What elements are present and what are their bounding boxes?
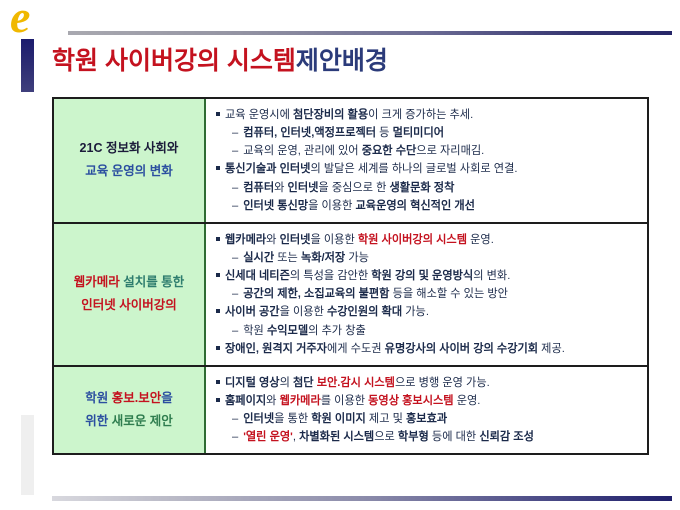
label-text-segment: 교육 운영의 변화 — [85, 164, 172, 178]
bullet-text-segment: 을 통한 — [274, 413, 311, 425]
bullet-line: 장애인, 원격지 거주자에게 수도권 유명강사의 사이버 강의 수강기회 제공. — [216, 340, 639, 358]
bottom-divider-rule — [52, 496, 672, 501]
square-bullet-icon — [216, 166, 220, 170]
proposal-background-table: 21C 정보화 사회와교육 운영의 변화교육 운영시에 첨단장비의 활용이 크게… — [52, 97, 649, 455]
bullet-text-segment: 에 있어 — [325, 145, 362, 157]
bullet-text-segment: 을 이용한 — [280, 306, 327, 318]
bullet-text-segment: 보안.감시 시스템 — [317, 377, 395, 389]
bullet-text-segment: 인터넷 — [288, 182, 319, 194]
row-category-label: 21C 정보화 사회와교육 운영의 변화 — [54, 99, 206, 222]
bullet-text-segment: 학부형 — [398, 431, 429, 443]
square-bullet-icon — [216, 309, 220, 313]
sub-bullet-line: –실시간 또는 녹화/저장 가능 — [216, 249, 639, 267]
sub-bullet-line: –교육의 운영, 관리에 있어 중요한 수단으로 자리매김. — [216, 142, 639, 160]
bullet-text-segment: 제고 및 — [366, 413, 406, 425]
square-bullet-icon — [216, 398, 220, 402]
sub-bullet-line: –인터넷을 통한 학원 이미지 제고 및 홍보효과 — [216, 410, 639, 428]
bullet-text-segment: 동영상 홍보시스템 — [368, 395, 453, 407]
bullet-text-segment: 차별화된 시스템 — [299, 431, 374, 443]
bullet-text: 공간의 제한, 소집교육의 불편함 등을 해소할 수 있는 방안 — [243, 285, 508, 303]
bullet-text-segment: 공간의 제한, 소집교육의 불편함 — [243, 288, 389, 300]
sub-bullet-line: –컴퓨터, 인터넷,액정프로젝터 등 멀티미디어 — [216, 124, 639, 142]
bullet-text: '열린 운영', 차별화된 시스템으로 학부형 등에 대한 신뢰감 조성 — [243, 428, 534, 446]
bullet-line: 웹카메라와 인터넷을 이용한 학원 사이버강의 시스템 운영. — [216, 231, 639, 249]
bullet-text-segment: 으로 — [374, 431, 398, 443]
label-text-segment: 학원 — [85, 391, 111, 405]
bullet-text-segment: 가능. — [402, 306, 429, 318]
bullet-text: 학원 수익모델의 추가 창출 — [243, 322, 366, 340]
bullet-text-segment: 생활문화 정착 — [390, 182, 455, 194]
square-bullet-icon — [216, 380, 220, 384]
bullet-text-segment: 와 — [274, 182, 287, 194]
bullet-text-segment: 신세대 네티즌 — [225, 270, 290, 282]
dash-bullet-icon: – — [232, 410, 238, 428]
bullet-text-segment: 등에 대한 — [429, 431, 480, 443]
dash-bullet-icon: – — [232, 249, 238, 267]
bullet-line: 홈페이지와 웹카메라를 이용한 동영상 홍보시스템 운영. — [216, 392, 639, 410]
sub-bullet-line: –'열린 운영', 차별화된 시스템으로 학부형 등에 대한 신뢰감 조성 — [216, 428, 639, 446]
bullet-text-segment: 를 이용한 — [321, 395, 368, 407]
bullet-text-segment: 녹화/저장 — [301, 252, 345, 264]
bullet-text-segment: 을 이용한 — [310, 234, 357, 246]
square-bullet-icon — [216, 346, 220, 350]
sub-bullet-line: –학원 수익모델의 추가 창출 — [216, 322, 639, 340]
sub-bullet-line: –인터넷 통신망을 이용한 교육운영의 혁신적인 개선 — [216, 197, 639, 215]
page-title-secondary: 제안배경 — [296, 47, 388, 75]
row-category-label-line: 21C 정보화 사회와 — [80, 137, 179, 160]
bullet-text-segment: 멀티미디어 — [393, 127, 444, 139]
bullet-text: 신세대 네티즌의 특성을 감안한 학원 강의 및 운영방식의 변화. — [225, 267, 510, 285]
bullet-text-segment: 또는 — [274, 252, 301, 264]
bullet-text-segment: '열린 운영' — [243, 431, 293, 443]
dash-bullet-icon: – — [232, 322, 238, 340]
bullet-text-segment: 중요한 수단 — [362, 145, 417, 157]
label-text-segment: 21C 정보화 사회와 — [80, 141, 179, 155]
square-bullet-icon — [216, 112, 220, 116]
top-divider-rule — [68, 31, 672, 35]
dash-bullet-icon: – — [232, 179, 238, 197]
bullet-line: 디지털 영상의 첨단 보안.감시 시스템으로 병행 운영 가능. — [216, 374, 639, 392]
row-category-label-line: 교육 운영의 변화 — [85, 160, 172, 183]
bullet-text-segment: 교육의 운영, 관리 — [243, 145, 324, 157]
bullet-text-segment: 으로 자리매김. — [416, 145, 484, 157]
bullet-text: 디지털 영상의 첨단 보안.감시 시스템으로 병행 운영 가능. — [225, 374, 490, 392]
row-category-label: 웹카메라 설치를 통한인터넷 사이버강의 — [54, 224, 206, 365]
bullet-line: 통신기술과 인터넷의 발달은 세계를 하나의 글로벌 사회로 연결. — [216, 160, 639, 178]
bullet-text-segment: 컴퓨터, 인터넷,액정프로젝터 — [243, 127, 376, 139]
label-text-segment: 인터넷 사이버강의 — [81, 298, 176, 312]
bullet-text-segment: 학원 강의 및 운영방식 — [371, 270, 473, 282]
bullet-text: 컴퓨터와 인터넷을 중심으로 한 생활문화 정착 — [243, 179, 454, 197]
bullet-text-segment: 가능 — [345, 252, 369, 264]
bullet-text-segment: 인터넷 — [280, 234, 311, 246]
page-title-primary: 학원 사이버강의 시스템 — [52, 47, 296, 75]
bullet-text-segment: 학원 사이버강의 시스템 — [358, 234, 467, 246]
bullet-text-segment: 이 크게 증가하는 추세. — [368, 109, 473, 121]
bullet-text-segment: 통신기술과 인터넷 — [225, 163, 310, 175]
bullet-text: 컴퓨터, 인터넷,액정프로젝터 등 멀티미디어 — [243, 124, 444, 142]
dash-bullet-icon: – — [232, 285, 238, 303]
bullet-text-segment: 에게 수도권 — [327, 343, 385, 355]
bullet-text: 교육의 운영, 관리에 있어 중요한 수단으로 자리매김. — [243, 142, 484, 160]
bullet-text-segment: 교육 운영시에 — [225, 109, 293, 121]
slide-canvas: e 학원 사이버강의 시스템제안배경 21C 정보화 사회와교육 운영의 변화교… — [0, 0, 680, 510]
bullet-text: 교육 운영시에 첨단장비의 활용이 크게 증가하는 추세. — [225, 106, 473, 124]
bullet-text-segment: 등을 해소할 수 있는 방안 — [389, 288, 507, 300]
row-category-label-line: 학원 홍보.보안을 — [85, 387, 172, 410]
row-content-cell: 교육 운영시에 첨단장비의 활용이 크게 증가하는 추세.–컴퓨터, 인터넷,액… — [206, 99, 647, 222]
row-content-cell: 웹카메라와 인터넷을 이용한 학원 사이버강의 시스템 운영.–실시간 또는 녹… — [206, 224, 647, 365]
bullet-text-segment: 홍보효과 — [406, 413, 447, 425]
bullet-text-segment: 유명강사의 사이버 강의 수강기회 — [385, 343, 538, 355]
bullet-text-segment: 학원 — [243, 325, 267, 337]
bullet-text-segment: 디지털 영상 — [225, 377, 280, 389]
bullet-text-segment: 인터넷 — [243, 413, 274, 425]
bullet-text-segment: 사이버 공간 — [225, 306, 280, 318]
bullet-text-segment: 신뢰감 조성 — [479, 431, 534, 443]
bullet-text-segment: 제공. — [538, 343, 565, 355]
label-text-segment: 웹카메라 — [74, 275, 123, 289]
bullet-text-segment: 학원 이미지 — [311, 413, 366, 425]
bullet-text-segment: 의 특성을 감안한 — [290, 270, 371, 282]
bullet-text-segment: 실시간 — [243, 252, 274, 264]
bullet-text-segment: 웹카메라 — [280, 395, 321, 407]
sub-bullet-line: –공간의 제한, 소집교육의 불편함 등을 해소할 수 있는 방안 — [216, 285, 639, 303]
dash-bullet-icon: – — [232, 142, 238, 160]
e-logo-icon: e — [10, 0, 29, 40]
bullet-text-segment: 첨단장비의 활용 — [293, 109, 368, 121]
bullet-text-segment: 의 변화. — [473, 270, 510, 282]
bullet-text-segment: 인터넷 통신망 — [243, 200, 308, 212]
bullet-text-segment: 컴퓨터 — [243, 182, 274, 194]
row-category-label-line: 인터넷 사이버강의 — [81, 294, 176, 317]
bullet-text-segment: 교육운영의 혁신적인 개선 — [356, 200, 475, 212]
page-title: 학원 사이버강의 시스템제안배경 — [52, 48, 388, 76]
row-category-label-line: 웹카메라 설치를 통한 — [74, 271, 184, 294]
bullet-text-segment: 운영. — [467, 234, 494, 246]
table-row: 21C 정보화 사회와교육 운영의 변화교육 운영시에 첨단장비의 활용이 크게… — [54, 99, 647, 224]
bullet-line: 신세대 네티즌의 특성을 감안한 학원 강의 및 운영방식의 변화. — [216, 267, 639, 285]
bullet-text-segment: 의 추가 창출 — [308, 325, 366, 337]
bullet-text: 인터넷을 통한 학원 이미지 제고 및 홍보효과 — [243, 410, 447, 428]
row-category-label: 학원 홍보.보안을위한 새로운 제안 — [54, 367, 206, 454]
bullet-text: 홈페이지와 웹카메라를 이용한 동영상 홍보시스템 운영. — [225, 392, 480, 410]
dash-bullet-icon: – — [232, 197, 238, 215]
bullet-text-segment: 의 — [280, 377, 293, 389]
label-text-segment: 을 — [161, 391, 173, 405]
label-text-segment: 홍보.보안 — [112, 391, 161, 405]
row-content-cell: 디지털 영상의 첨단 보안.감시 시스템으로 병행 운영 가능.홈페이지와 웹카… — [206, 367, 647, 454]
bullet-text: 인터넷 통신망을 이용한 교육운영의 혁신적인 개선 — [243, 197, 475, 215]
label-text-segment: 새로운 제안 — [112, 414, 173, 428]
bullet-text-segment: 을 이용한 — [308, 200, 355, 212]
dash-bullet-icon: – — [232, 428, 238, 446]
dash-bullet-icon: – — [232, 124, 238, 142]
label-text-segment: 위한 — [85, 414, 111, 428]
bullet-text-segment: 장애인, 원격지 거주자 — [225, 343, 327, 355]
bullet-text-segment: 와 — [266, 234, 279, 246]
table-row: 학원 홍보.보안을위한 새로운 제안디지털 영상의 첨단 보안.감시 시스템으로… — [54, 367, 647, 454]
bullet-text-segment: 웹카메라 — [225, 234, 266, 246]
bullet-text: 웹카메라와 인터넷을 이용한 학원 사이버강의 시스템 운영. — [225, 231, 494, 249]
bullet-line: 교육 운영시에 첨단장비의 활용이 크게 증가하는 추세. — [216, 106, 639, 124]
title-accent-bar — [21, 39, 34, 92]
bullet-text: 통신기술과 인터넷의 발달은 세계를 하나의 글로벌 사회로 연결. — [225, 160, 517, 178]
bullet-text-segment: 홈페이지 — [225, 395, 266, 407]
bullet-text: 실시간 또는 녹화/저장 가능 — [243, 249, 369, 267]
table-row: 웹카메라 설치를 통한인터넷 사이버강의웹카메라와 인터넷을 이용한 학원 사이… — [54, 224, 647, 367]
sub-bullet-line: –컴퓨터와 인터넷을 중심으로 한 생활문화 정착 — [216, 179, 639, 197]
square-bullet-icon — [216, 273, 220, 277]
square-bullet-icon — [216, 237, 220, 241]
row-category-label-line: 위한 새로운 제안 — [85, 410, 172, 433]
bullet-text-segment: 의 발달은 세계를 하나의 글로벌 사회로 연결. — [310, 163, 517, 175]
bullet-text-segment: 수익모델 — [267, 325, 308, 337]
left-grey-strip — [21, 415, 34, 495]
bullet-text-segment: 수강인원의 확대 — [327, 306, 402, 318]
bullet-text-segment: 등 — [376, 127, 393, 139]
bullet-text-segment: 을 중심으로 한 — [318, 182, 389, 194]
label-text-segment: 설치를 통한 — [123, 275, 184, 289]
bullet-text: 사이버 공간을 이용한 수강인원의 확대 가능. — [225, 303, 429, 321]
bullet-text: 장애인, 원격지 거주자에게 수도권 유명강사의 사이버 강의 수강기회 제공. — [225, 340, 565, 358]
bullet-text-segment: 운영. — [454, 395, 481, 407]
bullet-text-segment: 으로 병행 운영 가능. — [395, 377, 490, 389]
bullet-text-segment: 와 — [266, 395, 279, 407]
bullet-line: 사이버 공간을 이용한 수강인원의 확대 가능. — [216, 303, 639, 321]
bullet-text-segment: 첨단 — [293, 377, 317, 389]
